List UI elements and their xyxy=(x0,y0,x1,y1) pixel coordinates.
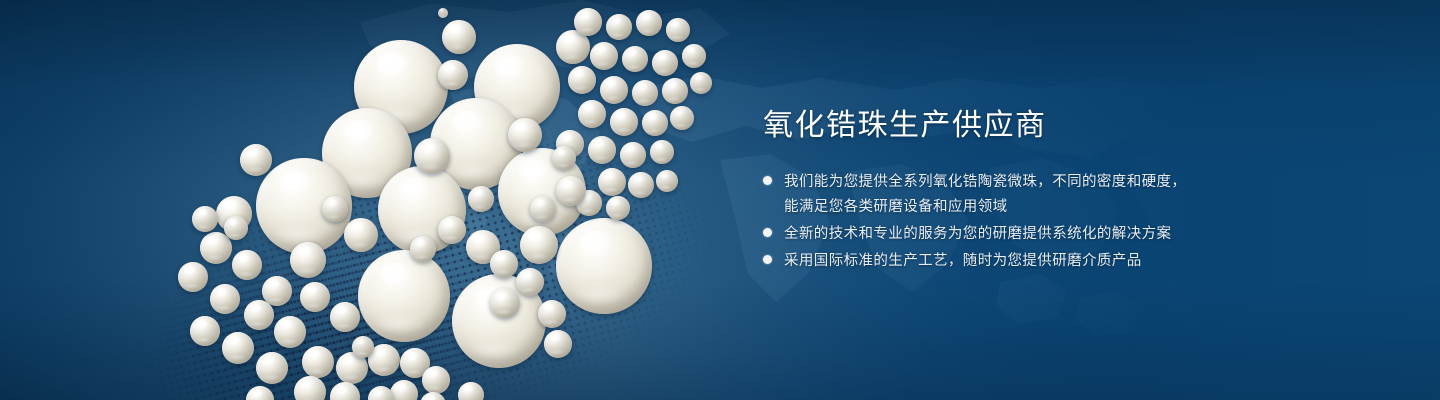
list-item-line-1: 我们能为您提供全系列氧化锆陶瓷微珠，不同的密度和硬度， xyxy=(784,174,1186,190)
list-item-line-1: 全新的技术和专业的服务为您的研磨提供系统化的解决方案 xyxy=(784,226,1171,242)
list-item: 全新的技术和专业的服务为您的研磨提供系统化的解决方案 xyxy=(763,222,1233,247)
hero-banner: 氧化锆珠生产供应商 我们能为您提供全系列氧化锆陶瓷微珠，不同的密度和硬度， 能满… xyxy=(0,0,1440,400)
banner-text-block: 氧化锆珠生产供应商 我们能为您提供全系列氧化锆陶瓷微珠，不同的密度和硬度， 能满… xyxy=(763,106,1233,276)
feature-list: 我们能为您提供全系列氧化锆陶瓷微珠，不同的密度和硬度， 能满足您各类研磨设备和应… xyxy=(763,170,1233,274)
bullet-dot-icon xyxy=(763,255,772,264)
page-title: 氧化锆珠生产供应商 xyxy=(763,106,1233,146)
list-item: 我们能为您提供全系列氧化锆陶瓷微珠，不同的密度和硬度， 能满足您各类研磨设备和应… xyxy=(763,170,1233,220)
list-item-line-1: 采用国际标准的生产工艺，随时为您提供研磨介质产品 xyxy=(784,253,1142,269)
list-item: 采用国际标准的生产工艺，随时为您提供研磨介质产品 xyxy=(763,249,1233,274)
list-item-text: 采用国际标准的生产工艺，随时为您提供研磨介质产品 xyxy=(784,249,1142,274)
bullet-dot-icon xyxy=(763,176,772,185)
list-item-line-2: 能满足您各类研磨设备和应用领域 xyxy=(784,195,1186,220)
list-item-text: 全新的技术和专业的服务为您的研磨提供系统化的解决方案 xyxy=(784,222,1171,247)
bullet-dot-icon xyxy=(763,228,772,237)
list-item-text: 我们能为您提供全系列氧化锆陶瓷微珠，不同的密度和硬度， 能满足您各类研磨设备和应… xyxy=(784,170,1186,220)
